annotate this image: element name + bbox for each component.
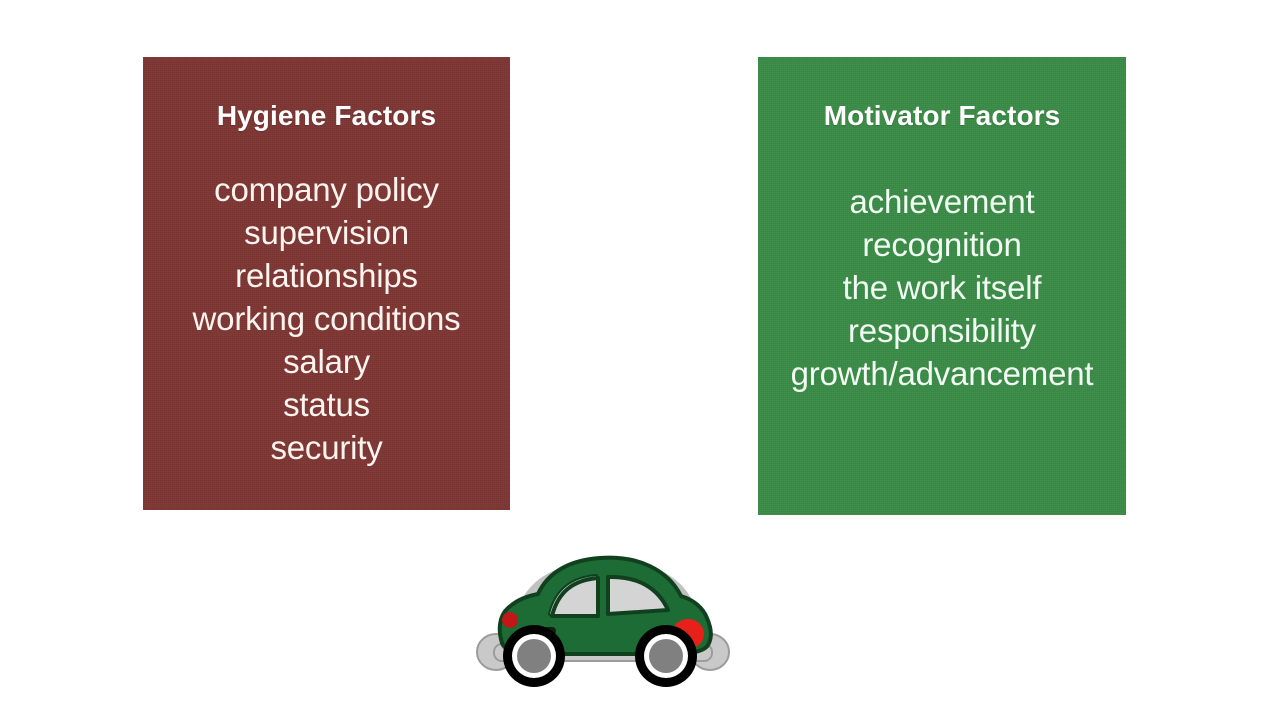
list-item: status [143, 383, 510, 426]
slide-canvas: Hygiene Factors company policy supervisi… [0, 0, 1280, 720]
motivator-factors-title: Motivator Factors [758, 57, 1126, 130]
list-item: relationships [143, 254, 510, 297]
green-car-icon [472, 544, 734, 696]
list-item: growth/advancement [758, 352, 1126, 395]
list-item: company policy [143, 168, 510, 211]
list-item: responsibility [758, 309, 1126, 352]
list-item: recognition [758, 223, 1126, 266]
list-item: security [143, 426, 510, 469]
motivator-factors-list: achievement recognition the work itself … [758, 180, 1126, 395]
hygiene-factors-panel: Hygiene Factors company policy supervisi… [143, 57, 510, 510]
list-item: working conditions [143, 297, 510, 340]
motivator-factors-panel: Motivator Factors achievement recognitio… [758, 57, 1126, 515]
hygiene-factors-list: company policy supervision relationships… [143, 168, 510, 469]
list-item: salary [143, 340, 510, 383]
hygiene-factors-title: Hygiene Factors [143, 57, 510, 130]
list-item: supervision [143, 211, 510, 254]
list-item: achievement [758, 180, 1126, 223]
car-front-light-icon [502, 612, 518, 628]
list-item: the work itself [758, 266, 1126, 309]
car-front-wheel-icon [503, 625, 565, 687]
car-rear-wheel-icon [635, 625, 697, 687]
